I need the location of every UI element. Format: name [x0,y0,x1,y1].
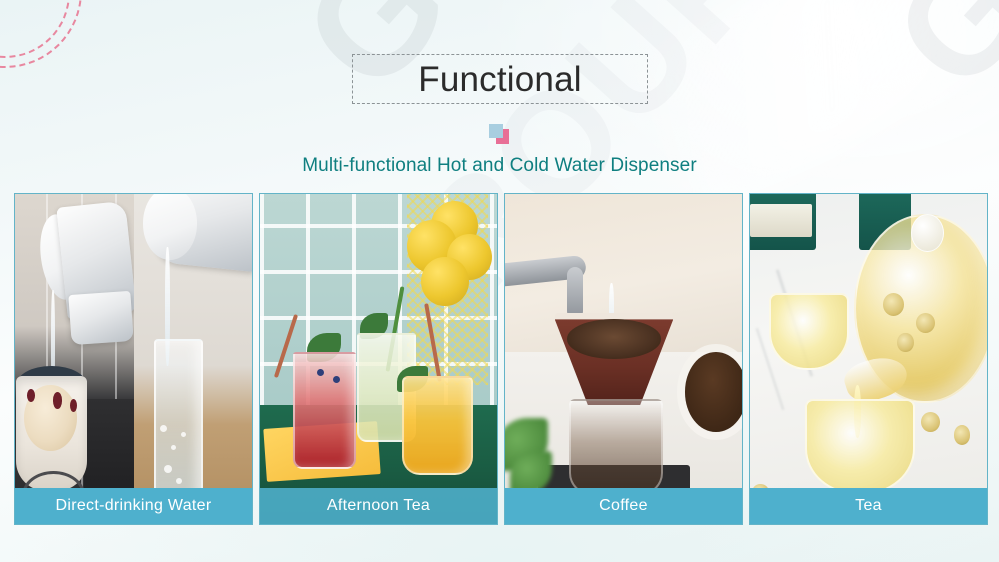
page-title-frame: Functional [352,54,648,104]
light-sheen [625,0,999,219]
panel-caption: Afternoon Tea [260,488,497,524]
panel-caption: Direct-drinking Water [15,488,252,524]
slide-canvas: GROUP GROUP GROUP Functional Multi-funct… [0,0,999,562]
feature-panel[interactable]: Tea [749,193,988,525]
panel-image-coffee [505,194,742,524]
feature-panel[interactable]: Afternoon Tea [259,193,498,525]
page-title: Functional [418,62,581,97]
feature-panel[interactable]: Direct-drinking Water [14,193,253,525]
panel-image-afternoon-tea [260,194,497,524]
blue-square-icon [489,124,503,138]
dashed-arc-icon [0,0,82,68]
panel-caption: Tea [750,488,987,524]
panel-image-tea [750,194,987,524]
panel-caption: Coffee [505,488,742,524]
dashed-arc-icon [0,0,70,58]
watermark-text: GROUP [860,0,999,122]
feature-panel[interactable]: Coffee [504,193,743,525]
feature-panel-grid: Direct-drinking Water [14,193,988,525]
panel-image-direct-drinking-water [15,194,252,524]
decorative-squares [489,124,511,144]
page-subtitle: Multi-functional Hot and Cold Water Disp… [0,155,999,177]
